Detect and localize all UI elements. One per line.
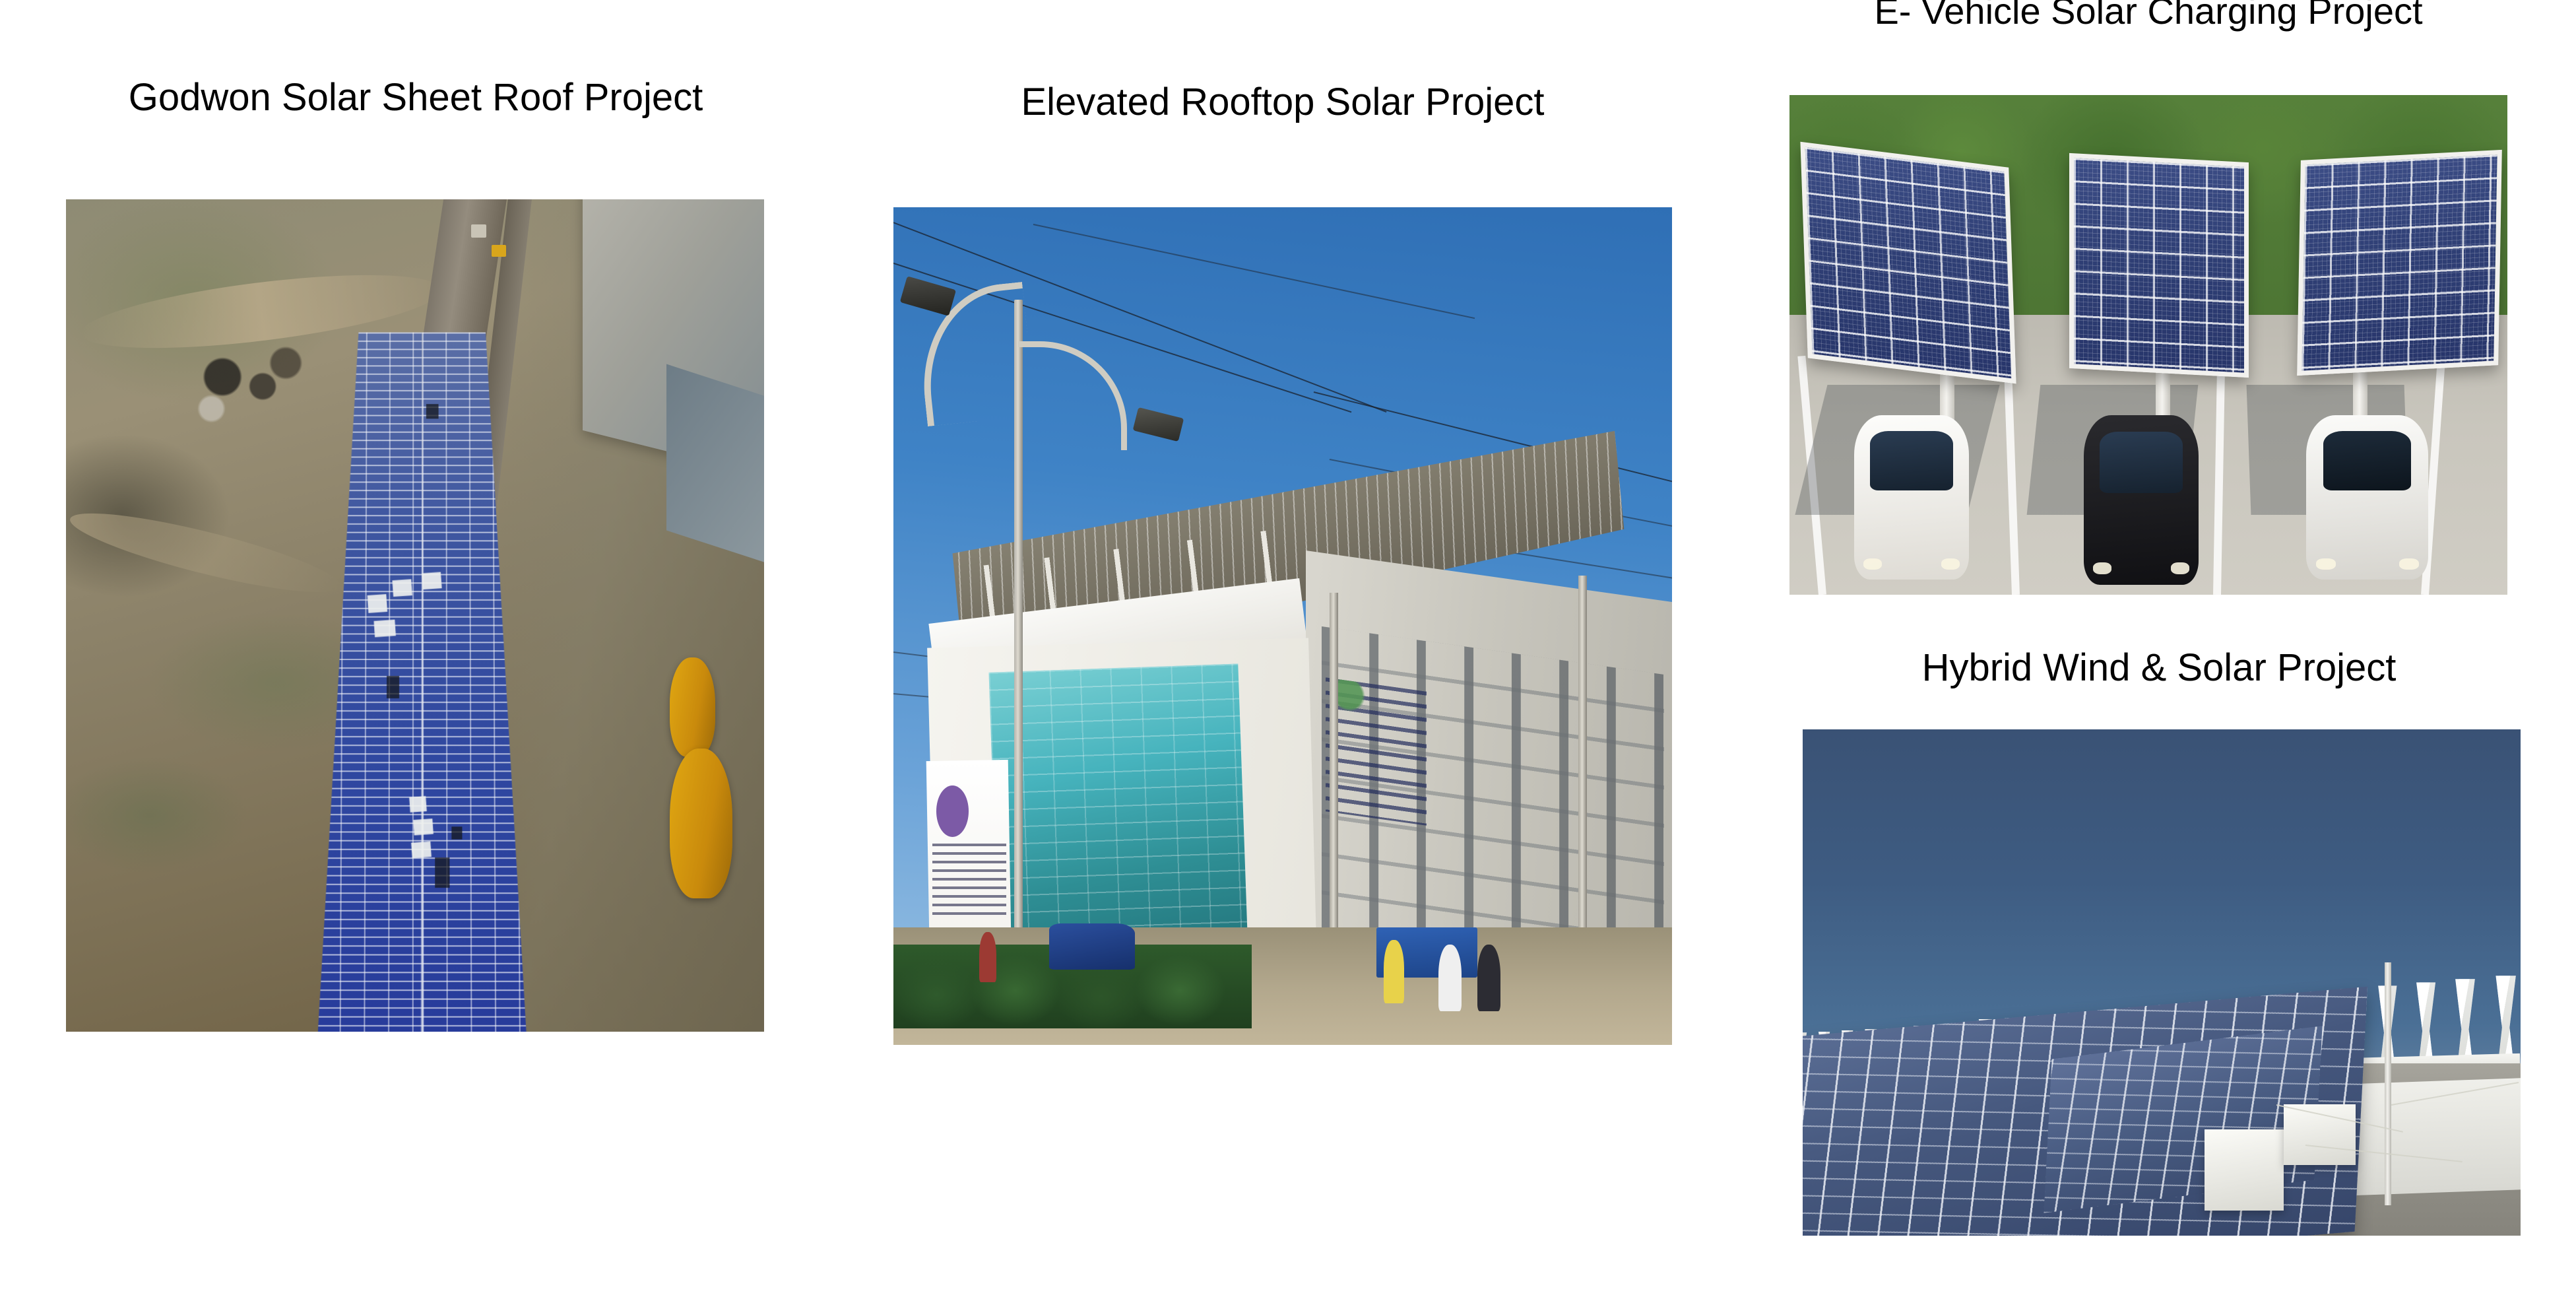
parked-electric-car-silver <box>2306 415 2428 580</box>
solar-carport-panel-left <box>1800 142 2016 384</box>
project-panel-hybrid-wind-solar: Hybrid Wind & Solar Project <box>1803 648 2521 1242</box>
panel-title-hybrid-wind-solar: Hybrid Wind & Solar Project <box>1776 648 2542 688</box>
solar-roof-vent <box>451 827 462 839</box>
godwon-solar-sheet-roof-photo <box>66 199 764 1032</box>
parked-car <box>1049 923 1135 970</box>
aerial-debris-pile <box>172 322 338 442</box>
solar-roof-patch <box>413 818 433 835</box>
pedestrian <box>1384 940 1404 1003</box>
presentation-slide: Godwon Solar Sheet Roof Project <box>0 0 2576 1301</box>
solar-roof-left-slope <box>315 333 422 1032</box>
car-windshield <box>1870 431 1952 490</box>
elevated-rooftop-solar-photo <box>893 207 1672 1045</box>
solar-carport-panel-center <box>2069 152 2249 377</box>
project-panel-godwon-solar-sheet-roof: Godwon Solar Sheet Roof Project <box>66 66 765 1036</box>
solar-roof-patch <box>409 796 427 813</box>
solar-roof-skylight <box>435 857 449 888</box>
car-taillight <box>1863 558 1882 570</box>
car-taillight <box>2093 562 2111 574</box>
car-windshield <box>2323 431 2411 490</box>
panel-title-e-vehicle-solar-charging: E- Vehicle Solar Charging Project <box>1753 0 2544 31</box>
parked-electric-car-black <box>2084 415 2199 585</box>
solar-roof-patch <box>368 594 387 613</box>
motorcyclist <box>1477 945 1500 1012</box>
motorcyclist <box>1438 945 1462 1012</box>
solar-roof-right-slope <box>422 333 529 1032</box>
parked-electric-car-white <box>1854 415 1969 580</box>
aerial-silo-tank <box>670 749 732 898</box>
solar-carport-panel-right <box>2298 150 2502 376</box>
hybrid-wind-solar-photo <box>1803 729 2521 1236</box>
pedestrian <box>979 932 996 982</box>
aerial-solar-roof <box>315 333 529 1032</box>
lightning-arrestor-mast <box>2385 962 2391 1205</box>
solar-roof-patch <box>422 572 441 589</box>
solar-roof-patch <box>393 579 412 597</box>
car-taillight <box>2399 558 2419 570</box>
project-panel-e-vehicle-solar-charging: E- Vehicle Solar Charging Project <box>1789 0 2507 596</box>
solar-roof-skylight <box>387 677 399 699</box>
car-windshield <box>2100 432 2182 493</box>
aerial-vehicle <box>471 224 486 238</box>
aerial-vehicle <box>492 245 505 257</box>
car-taillight <box>2171 562 2189 574</box>
car-taillight <box>2316 558 2336 570</box>
e-vehicle-solar-charging-photo <box>1789 95 2507 595</box>
solar-roof-patch <box>373 620 395 638</box>
panel-title-elevated-rooftop-solar: Elevated Rooftop Solar Project <box>893 83 1672 123</box>
solar-roof-patch <box>411 842 431 858</box>
clinic-banner-text-block <box>932 844 1006 919</box>
project-panel-elevated-rooftop-solar: Elevated Rooftop Solar Project <box>893 69 1672 1046</box>
building-side-signage <box>1326 678 1427 826</box>
solar-roof-skylight <box>426 405 439 419</box>
panel-mount-plinth <box>2205 1129 2284 1211</box>
panel-title-godwon-solar-sheet-roof: Godwon Solar Sheet Roof Project <box>66 78 765 118</box>
car-taillight <box>1941 558 1960 570</box>
aerial-silo-tank <box>670 657 715 757</box>
